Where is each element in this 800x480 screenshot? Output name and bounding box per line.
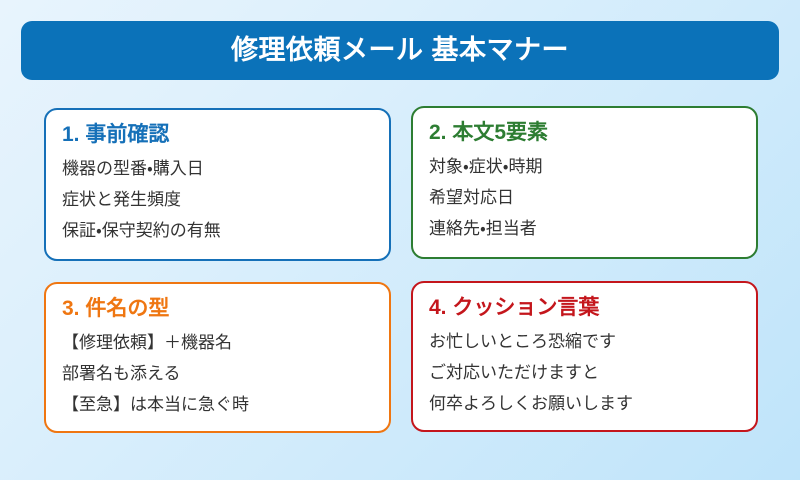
card-pre-check: 1. 事前確認 機器の型番・購入日 症状と発生頻度 保証・保守契約の有無 [44,108,391,261]
card-line: 保証・保守契約の有無 [62,215,373,246]
card-lines-3: 【修理依頼】＋機器名 部署名も添える 【至急】は本当に急ぐ時 [62,327,373,420]
page-title: 修理依頼メール 基本マナー [231,37,569,64]
card-line: 希望対応日 [429,182,740,213]
card-line: 対象・症状・時期 [429,151,740,182]
card-line: 機器の型番・購入日 [62,153,373,184]
card-line: 何卒よろしくお願いします [429,388,740,419]
card-line: 【修理依頼】＋機器名 [62,327,373,358]
card-line: ご対応いただけますと [429,357,740,388]
poster-root: 修理依頼メール 基本マナー 1. 事前確認 機器の型番・購入日 症状と発生頻度 … [0,0,800,480]
title-bar: 修理依頼メール 基本マナー [21,21,779,80]
card-lines-1: 機器の型番・購入日 症状と発生頻度 保証・保守契約の有無 [62,153,373,246]
card-line: 連絡先・担当者 [429,213,740,244]
card-lines-4: お忙しいところ恐縮です ご対応いただけますと 何卒よろしくお願いします [429,326,740,419]
card-line: お忙しいところ恐縮です [429,326,740,357]
card-heading-4: 4. クッション言葉 [429,296,740,320]
card-lines-2: 対象・症状・時期 希望対応日 連絡先・担当者 [429,151,740,244]
card-heading-3: 3. 件名の型 [62,297,373,321]
card-heading-2: 2. 本文5要素 [429,121,740,145]
card-cushion-words: 4. クッション言葉 お忙しいところ恐縮です ご対応いただけますと 何卒よろしく… [411,281,758,432]
card-subject-format: 3. 件名の型 【修理依頼】＋機器名 部署名も添える 【至急】は本当に急ぐ時 [44,282,391,433]
card-line: 【至急】は本当に急ぐ時 [62,389,373,420]
card-line: 症状と発生頻度 [62,184,373,215]
card-body-five-elements: 2. 本文5要素 対象・症状・時期 希望対応日 連絡先・担当者 [411,106,758,259]
card-line: 部署名も添える [62,358,373,389]
card-heading-1: 1. 事前確認 [62,123,373,147]
